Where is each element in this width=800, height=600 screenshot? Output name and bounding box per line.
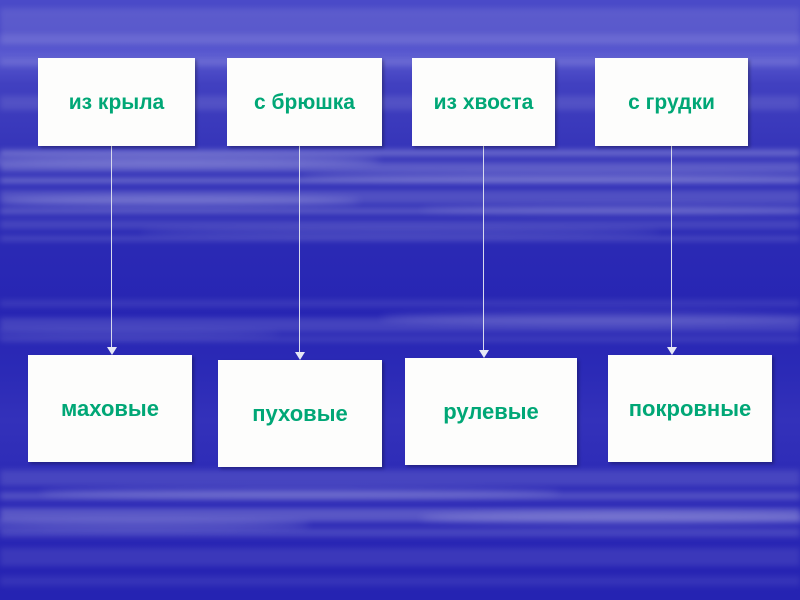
cloud-streak xyxy=(0,8,800,34)
connector-arrow-1 xyxy=(105,146,119,355)
node-label: маховые xyxy=(61,398,159,420)
cloud-streak xyxy=(0,236,800,241)
node-box-result-down[interactable]: пуховые xyxy=(218,360,382,467)
cloud-wisp xyxy=(380,312,800,324)
connector-line xyxy=(299,146,300,353)
connector-line xyxy=(671,146,672,348)
arrow-head-icon xyxy=(107,347,117,355)
node-label: из хвоста xyxy=(434,92,534,113)
arrow-head-icon xyxy=(479,350,489,358)
cloud-wisp xyxy=(420,512,800,524)
connector-arrow-3 xyxy=(477,146,491,358)
node-box-result-steering[interactable]: рулевые xyxy=(405,358,577,465)
connector-arrow-2 xyxy=(293,146,307,360)
node-label: с грудки xyxy=(628,92,715,113)
node-box-source-tail[interactable]: из хвоста xyxy=(412,58,555,146)
node-box-source-wing[interactable]: из крыла xyxy=(38,58,195,146)
arrow-head-icon xyxy=(667,347,677,355)
cloud-streak xyxy=(0,548,800,566)
cloud-streak xyxy=(0,576,800,586)
node-label: с брюшка xyxy=(254,92,355,113)
node-label: рулевые xyxy=(443,401,539,423)
diagram-slide: из крыла с брюшка из хвоста с грудки мах… xyxy=(0,0,800,600)
cloud-streak xyxy=(0,470,800,486)
cloud-streak xyxy=(0,34,800,44)
cloud-streak xyxy=(0,300,800,307)
connector-arrow-4 xyxy=(665,146,679,355)
cloud-streak xyxy=(0,150,800,156)
cloud-streak xyxy=(0,528,800,537)
node-box-result-flight[interactable]: маховые xyxy=(28,355,192,462)
node-label: пуховые xyxy=(252,403,347,425)
connector-line xyxy=(111,146,112,348)
node-label: покровные xyxy=(629,398,751,420)
node-label: из крыла xyxy=(69,92,164,113)
connector-line xyxy=(483,146,484,351)
cloud-wisp xyxy=(140,228,660,236)
arrow-head-icon xyxy=(295,352,305,360)
cloud-wisp xyxy=(40,488,560,498)
node-box-result-covert[interactable]: покровные xyxy=(608,355,772,462)
node-box-source-breast[interactable]: с грудки xyxy=(595,58,748,146)
node-box-source-belly[interactable]: с брюшка xyxy=(227,58,382,146)
